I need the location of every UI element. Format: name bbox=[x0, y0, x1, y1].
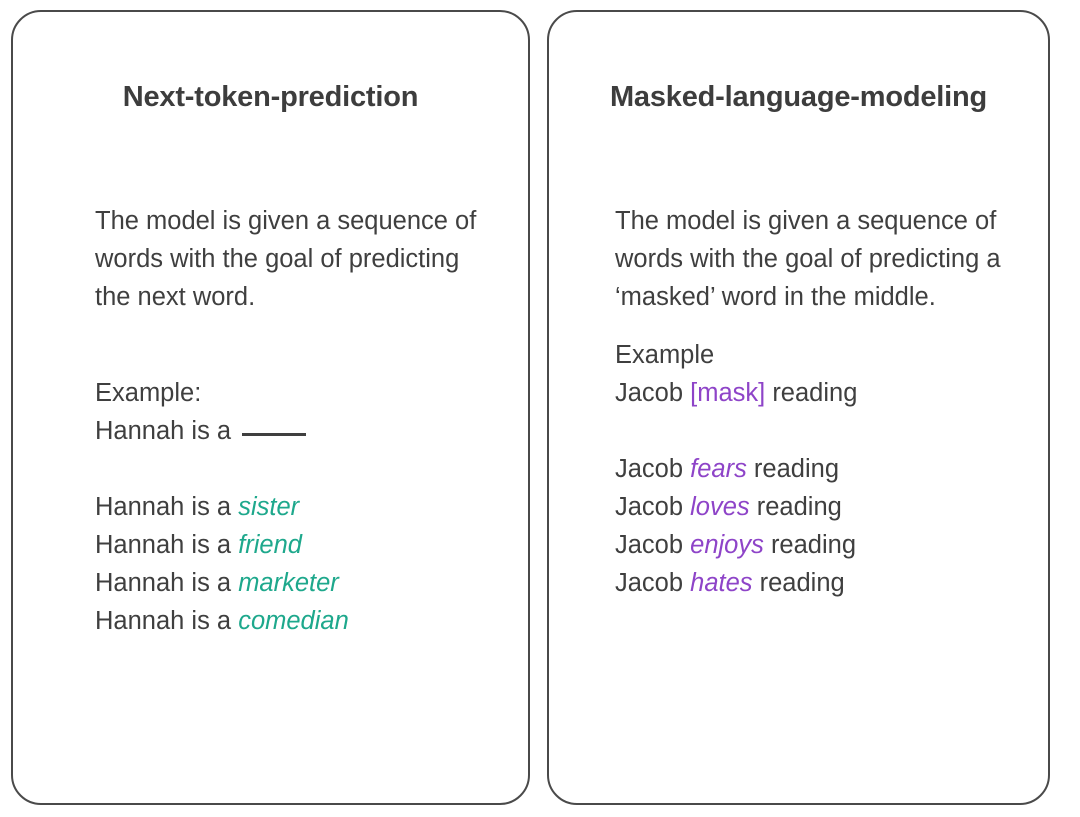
variant-list-left: Hannah is a sister Hannah is a friend Ha… bbox=[95, 488, 495, 640]
list-item: Jacob loves reading bbox=[615, 488, 1015, 526]
variant-word: enjoys bbox=[690, 531, 764, 559]
list-item: Hannah is a sister bbox=[95, 488, 495, 526]
list-item: Hannah is a friend bbox=[95, 526, 495, 564]
description-right: The model is given a sequence of words w… bbox=[615, 202, 1015, 316]
example-prompt-left: Hannah is a bbox=[95, 412, 495, 450]
variant-prefix: Hannah is a bbox=[95, 531, 238, 559]
variant-word: hates bbox=[690, 569, 752, 597]
variant-word: friend bbox=[238, 531, 302, 559]
card-masked-language-modeling: Masked-language-modeling The model is gi… bbox=[547, 10, 1050, 805]
variant-prefix: Jacob bbox=[615, 569, 690, 597]
comparison-board: Next-token-prediction The model is given… bbox=[0, 0, 1080, 817]
list-item: Jacob hates reading bbox=[615, 564, 1015, 602]
variant-prefix: Hannah is a bbox=[95, 493, 238, 521]
list-item: Jacob enjoys reading bbox=[615, 526, 1015, 564]
variant-suffix: reading bbox=[753, 569, 845, 597]
variant-word: sister bbox=[238, 493, 299, 521]
example-block-left: Example: Hannah is a bbox=[95, 374, 495, 450]
example-prompt-prefix-right: Jacob bbox=[615, 379, 690, 407]
list-item: Jacob fears reading bbox=[615, 450, 1015, 488]
list-item: Hannah is a marketer bbox=[95, 564, 495, 602]
description-left: The model is given a sequence of words w… bbox=[95, 202, 495, 316]
variant-word: loves bbox=[690, 493, 750, 521]
example-prompt-right: Jacob [mask] reading bbox=[615, 374, 1015, 412]
example-block-right: Example Jacob [mask] reading bbox=[615, 336, 1015, 412]
variant-word: fears bbox=[690, 455, 747, 483]
page-title-right: Masked-language-modeling bbox=[549, 77, 1048, 118]
card-body-right: The model is given a sequence of words w… bbox=[615, 202, 1015, 602]
blank-placeholder-icon bbox=[242, 433, 306, 436]
variant-list-right: Jacob fears reading Jacob loves reading … bbox=[615, 450, 1015, 602]
variant-prefix: Jacob bbox=[615, 531, 690, 559]
variant-suffix: reading bbox=[764, 531, 856, 559]
page-title-left: Next-token-prediction bbox=[13, 77, 528, 118]
list-item: Hannah is a comedian bbox=[95, 602, 495, 640]
example-prompt-prefix-left: Hannah is a bbox=[95, 417, 238, 445]
variant-prefix: Jacob bbox=[615, 493, 690, 521]
example-label-left: Example: bbox=[95, 374, 495, 412]
card-next-token-prediction: Next-token-prediction The model is given… bbox=[11, 10, 530, 805]
mask-token: [mask] bbox=[690, 379, 765, 407]
variant-suffix: reading bbox=[750, 493, 842, 521]
variant-prefix: Hannah is a bbox=[95, 607, 238, 635]
variant-prefix: Jacob bbox=[615, 455, 690, 483]
variant-suffix: reading bbox=[747, 455, 839, 483]
card-body-left: The model is given a sequence of words w… bbox=[95, 202, 495, 640]
variant-word: marketer bbox=[238, 569, 339, 597]
example-prompt-suffix-right: reading bbox=[765, 379, 857, 407]
example-label-right: Example bbox=[615, 336, 1015, 374]
variant-word: comedian bbox=[238, 607, 349, 635]
variant-prefix: Hannah is a bbox=[95, 569, 238, 597]
